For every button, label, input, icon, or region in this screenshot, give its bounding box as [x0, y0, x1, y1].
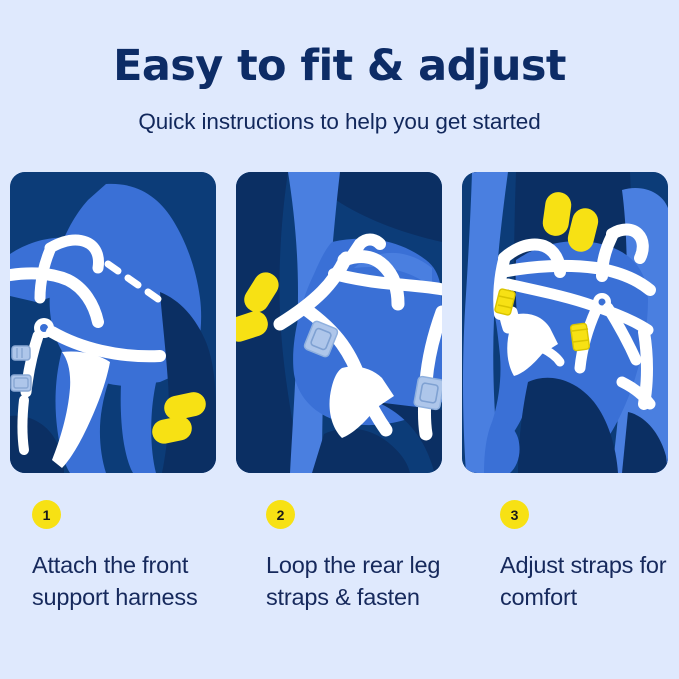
harness-illustration-3: [462, 172, 668, 473]
panel-step-1: [10, 172, 216, 473]
step-label-2: Loop the rear leg straps & fasten: [266, 549, 466, 613]
harness-illustration-2: [236, 172, 442, 473]
step-number-badge-3: 3: [500, 500, 529, 529]
illustration-panel-row: [10, 172, 669, 473]
panel-step-3: [462, 172, 668, 473]
step-caption-row: 1 Attach the front support harness 2 Loo…: [32, 500, 672, 613]
buckle-adjuster-right: [570, 323, 589, 351]
infographic-page: Easy to fit & adjust Quick instructions …: [0, 0, 679, 679]
step-number-badge-1: 1: [32, 500, 61, 529]
step-2: 2 Loop the rear leg straps & fasten: [266, 500, 500, 613]
buckle-clip-lower: [11, 375, 31, 391]
buckle-rear-right: [414, 376, 442, 410]
panel-step-2: [236, 172, 442, 473]
step-1: 1 Attach the front support harness: [32, 500, 266, 613]
page-title: Easy to fit & adjust: [0, 44, 679, 89]
step-number-badge-2: 2: [266, 500, 295, 529]
header: Easy to fit & adjust Quick instructions …: [0, 0, 679, 135]
step-label-1: Attach the front support harness: [32, 549, 232, 613]
step-label-3: Adjust straps for comfort: [500, 549, 679, 613]
step-3: 3 Adjust straps for comfort: [500, 500, 679, 613]
page-subtitle: Quick instructions to help you get start…: [0, 108, 679, 135]
harness-illustration-1: [10, 172, 216, 473]
buckle-clip-upper: [12, 346, 30, 360]
